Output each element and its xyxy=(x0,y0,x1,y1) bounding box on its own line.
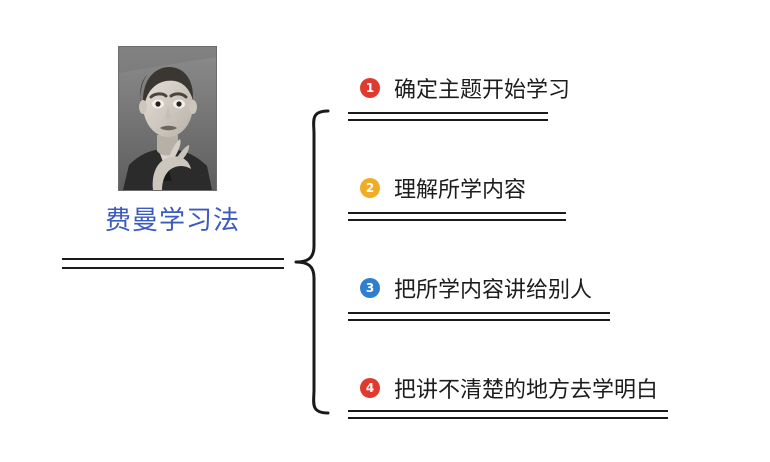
branch-number-badge-2: 2 xyxy=(360,178,380,198)
branch-underline-2 xyxy=(348,212,566,221)
brace-connector xyxy=(292,108,332,416)
branch-item-1[interactable]: 1 确定主题开始学习 xyxy=(360,72,570,104)
branch-text-3: 把所学内容讲给别人 xyxy=(394,272,592,304)
branch-text-2: 理解所学内容 xyxy=(394,172,526,204)
branch-underline-4 xyxy=(348,410,668,419)
diagram-canvas: 费曼学习法 1 确定主题开始学习 2 理解所学内容 3 把所学内容讲给别人 4 … xyxy=(0,0,770,462)
branch-underline-3 xyxy=(348,312,610,321)
branch-number-badge-4: 4 xyxy=(360,378,380,398)
branch-item-2[interactable]: 2 理解所学内容 xyxy=(360,172,526,204)
branch-text-1: 确定主题开始学习 xyxy=(394,72,570,104)
branch-number-badge-1: 1 xyxy=(360,78,380,98)
branch-number-badge-3: 3 xyxy=(360,278,380,298)
branch-underline-1 xyxy=(348,112,548,121)
root-node-underline xyxy=(62,258,284,269)
portrait-image xyxy=(118,46,217,191)
root-node-label: 费曼学习法 xyxy=(60,200,285,237)
branch-text-4: 把讲不清楚的地方去学明白 xyxy=(394,372,658,404)
branch-item-3[interactable]: 3 把所学内容讲给别人 xyxy=(360,272,592,304)
branch-item-4[interactable]: 4 把讲不清楚的地方去学明白 xyxy=(360,372,658,404)
